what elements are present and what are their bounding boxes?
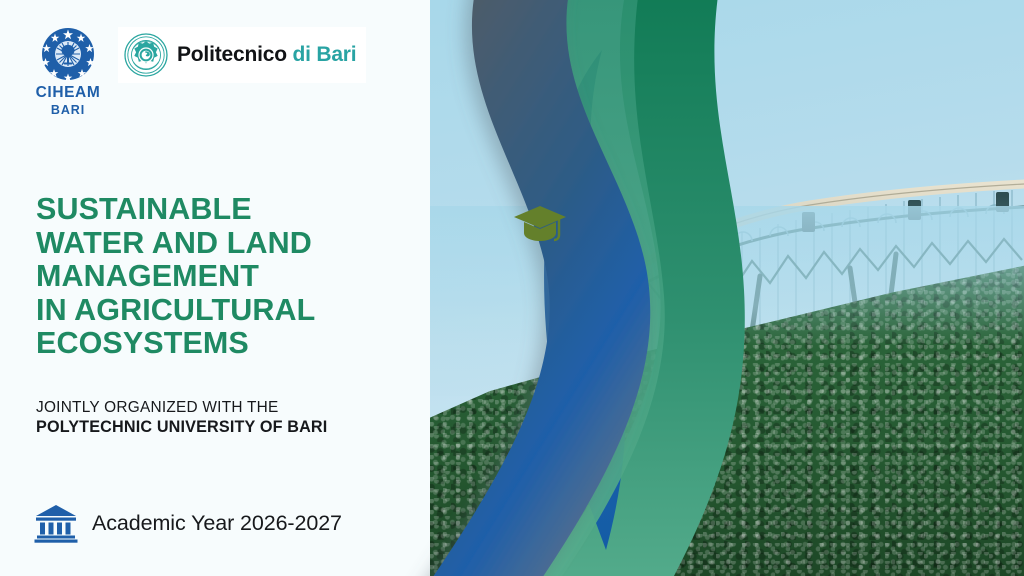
title-line-1: SUSTAINABLE [36, 193, 416, 227]
page-title: SUSTAINABLE WATER AND LAND MANAGEMENT IN… [36, 193, 416, 361]
politecnico-word: Politecnico [177, 43, 287, 66]
ciheam-subtitle: BARI [51, 104, 85, 117]
ciheam-emblem-icon [41, 27, 95, 81]
jointly-organized-block: JOINTLY ORGANIZED WITH THE POLYTECHNIC U… [36, 398, 436, 437]
ciheam-logo[interactable]: CIHEAM BARI [30, 27, 106, 116]
politecnico-seal-icon [124, 33, 168, 77]
title-line-2: WATER AND LAND [36, 227, 416, 261]
academic-year-label: Academic Year 2026-2027 [92, 511, 342, 536]
di-bari-word: di Bari [292, 43, 356, 66]
academic-year-block: Academic Year 2026-2027 [34, 503, 342, 543]
ciheam-name: CIHEAM [36, 85, 101, 101]
jointly-line-2: POLYTECHNIC UNIVERSITY OF BARI [36, 417, 436, 437]
logo-bar: CIHEAM BARI [30, 27, 366, 116]
title-line-5: ECOSYSTEMS [36, 327, 416, 361]
jointly-line-1: JOINTLY ORGANIZED WITH THE [36, 398, 436, 417]
graduation-cap-icon [512, 202, 568, 246]
classical-building-icon [34, 503, 78, 543]
politecnico-wordmark: Politecnico di Bari [177, 43, 356, 67]
poster-canvas: CIHEAM BARI [0, 0, 1024, 576]
title-line-3: MANAGEMENT [36, 260, 416, 294]
politecnico-di-bari-logo[interactable]: Politecnico di Bari [118, 27, 366, 83]
title-line-4: IN AGRICULTURAL [36, 294, 416, 328]
